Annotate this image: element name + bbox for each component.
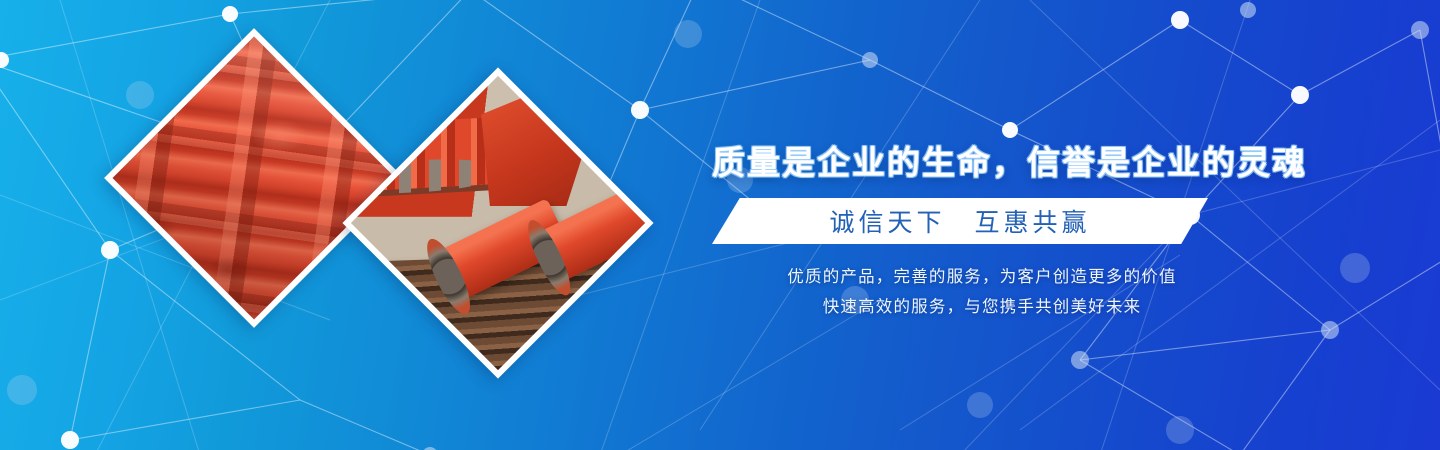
red-universal-joint-shafts-image [113,37,396,320]
photo-content [113,37,396,320]
photo-content [351,76,645,370]
description-line-1: 优质的产品，完善的服务，为客户创造更多的价值 [702,262,1262,292]
wooden-pallet [356,252,631,370]
warehouse-objects [351,76,645,370]
promotional-banner: 质量是企业的生命，信誉是企业的灵魂 诚信天下 互惠共赢 优质的产品，完善的服务，… [0,0,1440,450]
banner-headline: 质量是企业的生命，信誉是企业的灵魂 [712,136,1252,184]
red-shaft-a [434,198,571,302]
slogan-ribbon-text: 诚信天下 互惠共赢 [829,203,1090,239]
product-image-diamond-shafts [104,28,404,328]
product-image-diamond-warehouse [342,67,653,378]
red-cone-part [481,89,590,207]
photo-frame [351,76,645,370]
red-shaft-b [534,183,645,284]
slogan-ribbon: 诚信天下 互惠共赢 [712,198,1208,244]
banner-description: 优质的产品，完善的服务，为客户创造更多的价值 快速高效的服务，与您携手共创美好未… [702,262,1262,322]
description-line-2: 快速高效的服务，与您携手共创美好未来 [702,292,1262,322]
warehouse-pallets-shafts-image [351,76,645,370]
photo-frame [113,37,396,320]
